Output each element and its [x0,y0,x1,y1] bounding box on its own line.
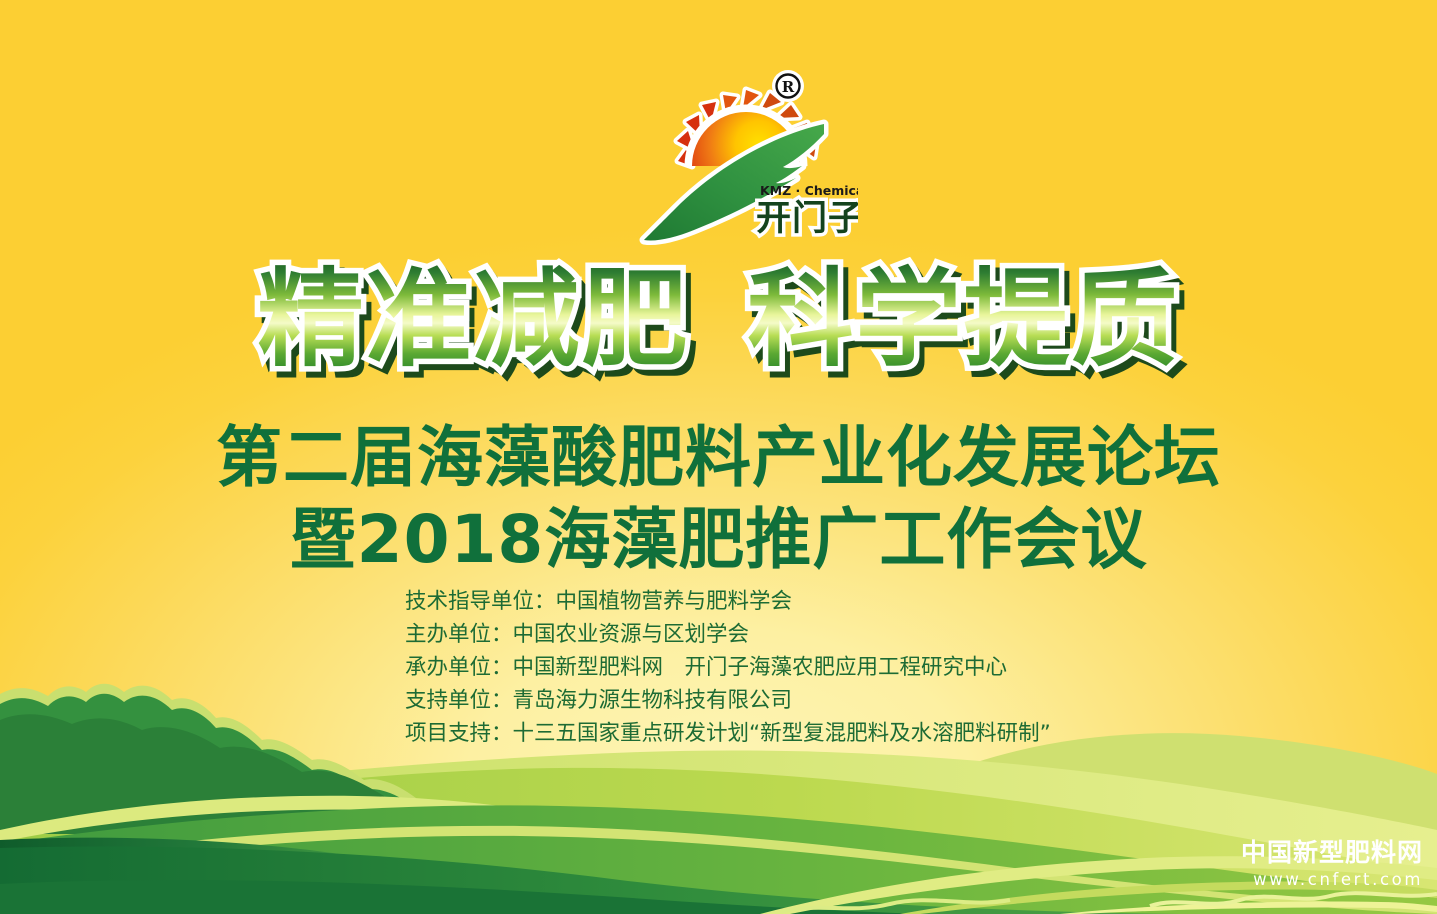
subtitle-line-2: 暨2018海藻肥推广工作会议 [0,486,1437,582]
headline-part-2-fill: 科学提质 [748,258,1180,381]
registered-trademark-icon: R [772,70,804,102]
headline-part-2: 科学提质 科学提质 科学提质 [748,265,1180,375]
watermark-site-url: www.cnfert.com [1241,869,1423,890]
organization-row-technical-guidance: 技术指导单位：中国植物营养与肥料学会 [405,585,1165,618]
logo-brand-en: KMZ · Chemical [760,183,858,198]
watermark-site-name: 中国新型肥料网 [1241,839,1423,868]
svg-text:R: R [782,78,795,96]
headline-part-1: 精准减肥 精准减肥 精准减肥 [258,265,690,375]
logo-graphic: R KMZ · Chemical 开门子 [628,62,858,252]
kmz-chemical-logo: R KMZ · Chemical 开门子 开门子 KMZ · Chemical … [628,62,858,252]
headline: 精准减肥 精准减肥 精准减肥 科学提质 科学提质 科学提质 [0,265,1437,375]
conference-banner: R KMZ · Chemical 开门子 开门子 KMZ · Chemical … [0,0,1437,914]
headline-part-1-fill: 精准减肥 [258,258,690,381]
logo-brand-cn: 开门子 [756,199,858,239]
site-watermark: 中国新型肥料网 www.cnfert.com [1241,839,1423,890]
landscape-graphic [0,634,1437,914]
landscape-illustration [0,634,1437,914]
